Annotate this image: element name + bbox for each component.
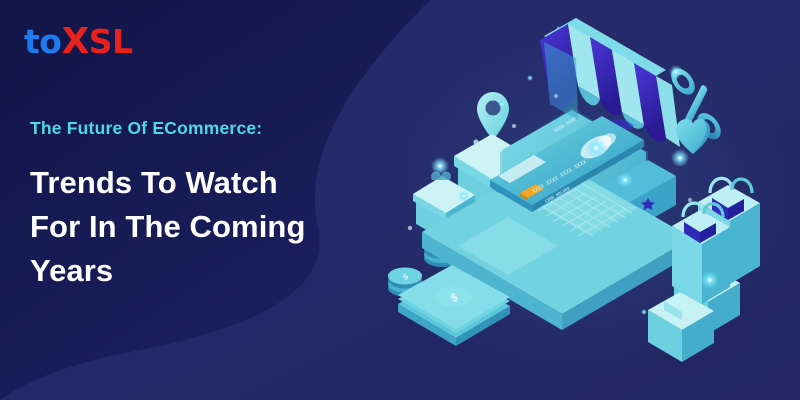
page-title: Trends To Watch For In The Coming Years bbox=[30, 161, 350, 293]
illustration-svg: $ $ bbox=[380, 0, 800, 400]
logo-text-x: X bbox=[61, 21, 88, 62]
headline-line-1: Trends To Watch bbox=[30, 161, 350, 205]
headline-line-2: For In The Coming bbox=[30, 205, 350, 249]
headline-line-3: Years bbox=[30, 249, 350, 293]
brand-logo[interactable]: toXSL bbox=[24, 24, 133, 60]
eyebrow-text: The Future Of ECommerce: bbox=[30, 118, 350, 139]
logo-text-to: to bbox=[24, 22, 61, 61]
heart-icon bbox=[676, 119, 710, 154]
promo-banner: toXSL The Future Of ECommerce: Trends To… bbox=[0, 0, 800, 400]
logo-text-sl: SL bbox=[89, 22, 133, 61]
ecommerce-illustration: $ $ bbox=[380, 0, 800, 400]
headline-block: The Future Of ECommerce: Trends To Watch… bbox=[30, 118, 350, 293]
